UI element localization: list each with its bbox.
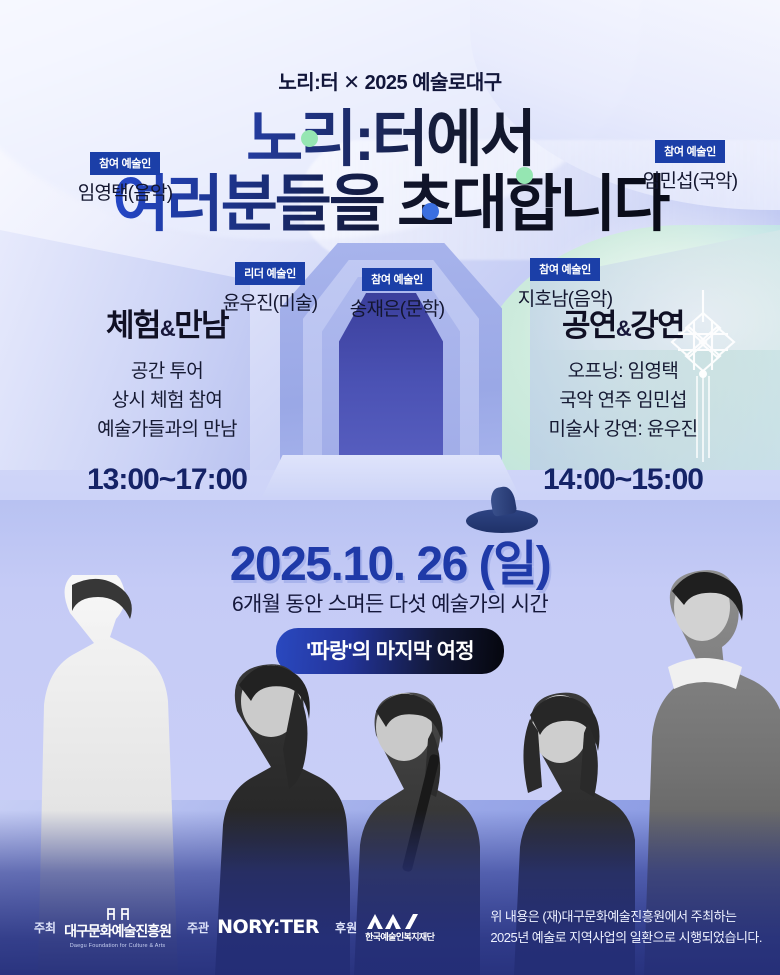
artist-role-badge: 참여 예술인	[655, 140, 725, 163]
arts-welfare-logo-icon: 한국예술인복지재단	[365, 912, 434, 942]
artist-nametag: 참여 예술인 송재은(문학)	[312, 268, 482, 321]
event-poster: 노리:터 ✕ 2025 예술로대구 노리:터에서 여러분들을 초대합니다 체험&…	[0, 0, 780, 975]
section-items: 공간 투어 상시 체험 참여 예술가들과의 만남	[52, 358, 282, 445]
section-item: 예술가들과의 만남	[52, 416, 282, 445]
credit-host: 주최 대구문화예술진흥원 Daegu Foundation for Cultur…	[34, 906, 171, 950]
section-experience: 체험&만남 공간 투어 상시 체험 참여 예술가들과의 만남 13:00~17:…	[52, 300, 282, 497]
artist-name: 송재은(문학)	[312, 294, 482, 321]
artist-name: 임민섭(국악)	[600, 166, 780, 193]
artist-role-badge: 리더 예술인	[235, 262, 305, 285]
footer-note-line-2: 2025년 예술로 지역사업의 일환으로 시행되었습니다.	[490, 928, 762, 949]
sponsor-logos: 주최 대구문화예술진흥원 Daegu Foundation for Cultur…	[34, 906, 434, 950]
footer-note-line-1: 위 내용은 (재)대구문화예술진흥원에서 주최하는	[490, 907, 762, 928]
noryter-logo-icon: NORY:TER	[217, 916, 319, 938]
credit-label: 주최	[34, 919, 56, 936]
accent-dot-green-1	[301, 130, 318, 147]
footer: 주최 대구문화예술진흥원 Daegu Foundation for Cultur…	[0, 865, 780, 975]
section-time: 14:00~15:00	[508, 463, 738, 497]
section-items: 오프닝: 임영택 국악 연주 임민섭 미술사 강연: 윤우진	[508, 358, 738, 445]
artist-nametag: 참여 예술인 지호남(음악)	[480, 258, 650, 311]
artist-role-badge: 참여 예술인	[90, 152, 160, 175]
heading-ampersand: &	[616, 316, 630, 341]
credit-name: 대구문화예술진흥원	[64, 923, 171, 939]
section-item: 오프닝: 임영택	[508, 358, 738, 387]
section-performance: 공연&강연 오프닝: 임영택 국악 연주 임민섭 미술사 강연: 윤우진 14:…	[508, 300, 738, 497]
heading-part-left: 공연	[562, 308, 616, 343]
heading-part-right: 강연	[630, 308, 684, 343]
artist-nametag: 참여 예술인 임영택(음악)	[40, 152, 210, 205]
credit-organizer: 주관 NORY:TER	[187, 916, 319, 938]
credit-label: 후원	[335, 919, 357, 936]
section-item: 미술사 강연: 윤우진	[508, 416, 738, 445]
credit-name-en: Daegu Foundation for Culture & Arts	[64, 944, 171, 950]
section-item: 국악 연주 임민섭	[508, 387, 738, 416]
tagline: 노리:터 ✕ 2025 예술로대구	[0, 66, 780, 95]
artist-role-badge: 참여 예술인	[362, 268, 432, 291]
heading-ampersand: &	[160, 316, 174, 341]
section-item: 공간 투어	[52, 358, 282, 387]
accent-dot-blue	[422, 203, 439, 220]
section-time: 13:00~17:00	[52, 463, 282, 497]
artist-nametag: 참여 예술인 임민섭(국악)	[600, 140, 780, 193]
heading-part-left: 체험	[106, 308, 160, 343]
accent-dot-green-2	[516, 167, 533, 184]
artist-role-badge: 참여 예술인	[530, 258, 600, 281]
credit-sponsor: 후원 한국예술인복지재단	[335, 912, 434, 942]
credit-name: 한국예술인복지재단	[365, 933, 434, 942]
section-item: 상시 체험 참여	[52, 387, 282, 416]
artist-name: 임영택(음악)	[40, 178, 210, 205]
artist-name: 지호남(음악)	[480, 284, 650, 311]
daegu-foundation-logo-icon: 대구문화예술진흥원 Daegu Foundation for Culture &…	[64, 906, 171, 950]
credit-label: 주관	[187, 919, 209, 936]
footer-note: 위 내용은 (재)대구문화예술진흥원에서 주최하는 2025년 예술로 지역사업…	[490, 907, 762, 949]
